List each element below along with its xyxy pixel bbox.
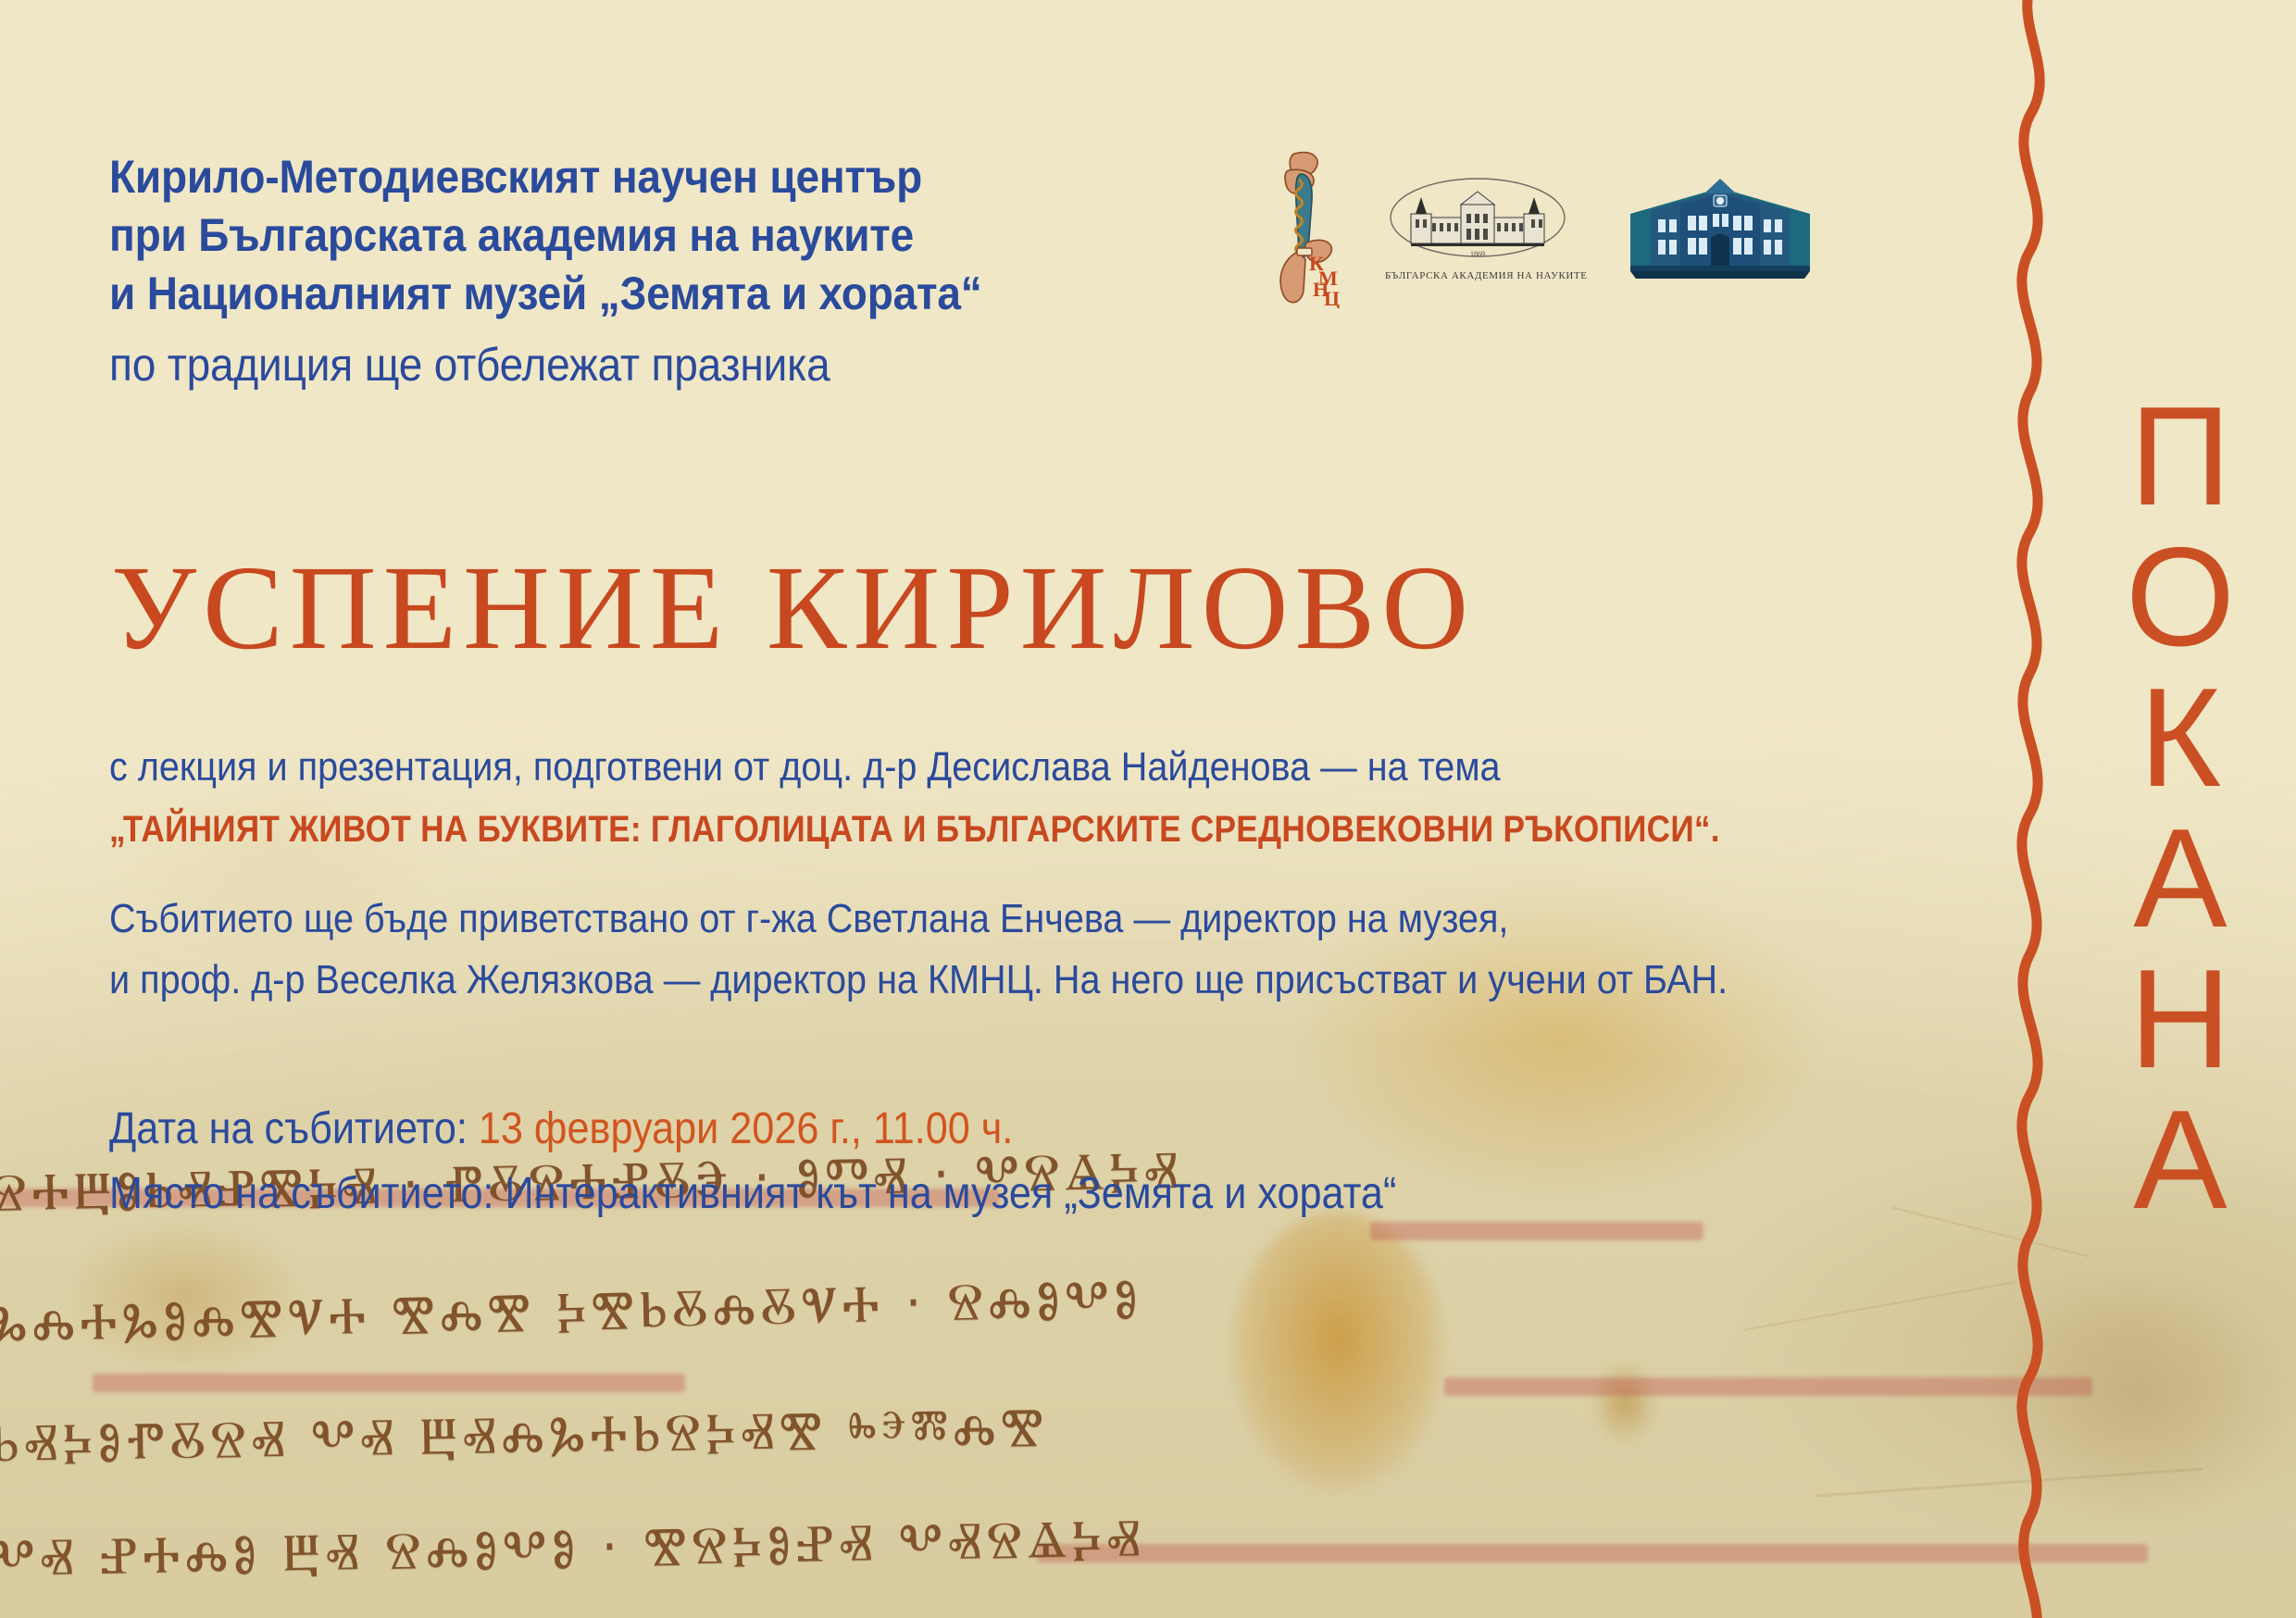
- welcome-block: Събитието ще бъде приветствано от г-жа С…: [109, 889, 1961, 1011]
- pokana-letter: А: [2133, 812, 2227, 947]
- organizer-line-3: и Националният музей „Земята и хората“: [109, 265, 1208, 323]
- details-block: Дата на събитието: 13 февруари 2026 г., …: [109, 1097, 1961, 1226]
- logo-row: К М Н Ц: [1270, 146, 1817, 308]
- page-title: УСПЕНИЕ КИРИЛОВО: [111, 539, 1475, 678]
- museum-logo: [1623, 173, 1817, 282]
- lecture-intro: с лекция и презентация, подготвени от до…: [109, 741, 1692, 794]
- event-place-label: Място на събитието:: [109, 1169, 494, 1218]
- organizer-line-2: при Българската академия на науките: [109, 206, 1208, 265]
- wavy-divider-icon: [2000, 0, 2065, 1618]
- organizers-block: Кирило-Методиевският научен център при Б…: [109, 148, 1304, 394]
- glagolitic-line: ⰂⰟ ⰐⰀⰎⰑ ⰁⰟ ⰔⰎⰑⰂⰑ · ⰊⰔⰍⰑⰐⰟ ⰂⰟⰔⰡⰍⰟ: [0, 1508, 1146, 1589]
- vertical-banner-pokana: П О К А Н А: [2065, 0, 2296, 1618]
- lecture-block: с лекция и презентация, подготвени от до…: [109, 741, 1868, 855]
- ban-year: 1869: [1470, 250, 1485, 258]
- organizer-line-1: Кирило-Методиевският научен център: [109, 148, 1208, 206]
- organizer-line-4: по традиция ще отбележат празника: [109, 336, 1208, 394]
- pokana-letter: Н: [2129, 952, 2231, 1088]
- ban-caption: БЪЛГАРСКА АКАДЕМИЯ НА НАУКИТЕ: [1385, 270, 1588, 281]
- svg-text:Ц: Ц: [1324, 287, 1340, 308]
- lecture-title: „ТАЙНИЯТ ЖИВОТ НА БУКВИТЕ: ГЛАГОЛИЦАТА И…: [109, 803, 1657, 855]
- event-date-row: Дата на събитието: 13 февруари 2026 г., …: [109, 1097, 1776, 1162]
- welcome-line-2: и проф. д-р Веселка Желязкова — директор…: [109, 950, 1776, 1011]
- pokana-letter: О: [2126, 530, 2235, 666]
- event-place-row: Място на събитието: Интерактивният кът н…: [109, 1162, 1776, 1226]
- pokana-letter: А: [2133, 1093, 2227, 1228]
- glagolitic-line: ⰃⰎⰀⰃⰑⰎⰊⰜⰀ ⰊⰎⰊ ⰍⰊⰓⰋⰎⰋⰜⰀ · ⰔⰎⰑⰂⰑ: [0, 1268, 1143, 1355]
- manuscript-rubric: [93, 1374, 685, 1392]
- event-place-value: Интерактивният кът на музея „Земята и хо…: [505, 1169, 1397, 1218]
- kmnc-logo: К М Н Ц: [1270, 146, 1350, 308]
- pokana-letter: К: [2140, 671, 2222, 806]
- manuscript-rubric: [1444, 1377, 2092, 1396]
- welcome-line-1: Събитието ще бъде приветствано от г-жа С…: [109, 889, 1776, 950]
- event-date-label: Дата на събитието:: [109, 1104, 468, 1153]
- ban-logo: 1869 БЪЛГАРСКА АКАДЕМИЯ НА НАУКИТЕ: [1385, 173, 1588, 281]
- event-date-value: 13 февруари 2026 г., 11.00 ч.: [479, 1104, 1013, 1153]
- pokana-letter: П: [2129, 390, 2230, 525]
- invitation-poster: ⰔⰀⰁⰑⰓⰟⰐⰊⰍⰟ · ⰒⰋⰔⰀⰐⰋⰅ · ⰑⰕⰟ · ⰂⰔⰡⰍⰟ ⰃⰎⰀⰃⰑ…: [0, 0, 2296, 1618]
- glagolitic-line: ⰓⰟⰍⰑⰒⰋⰔⰟ ⰂⰟ ⰁⰟⰎⰃⰀⰓⰔⰍⰟⰊ ⰸⰵⰿⰎⰊ: [0, 1397, 1049, 1475]
- manuscript-rubric: [1037, 1544, 2148, 1562]
